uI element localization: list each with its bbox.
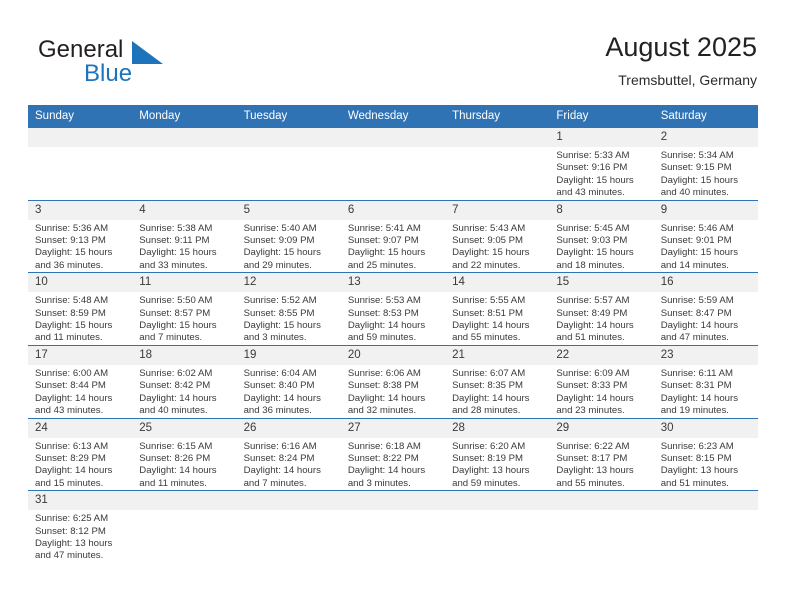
- day-number: 19: [237, 346, 341, 365]
- sunset-text: Sunset: 8:40 PM: [244, 380, 336, 392]
- daylight-text-line1: Daylight: 13 hours: [661, 465, 753, 477]
- weekday-header-row: Sunday Monday Tuesday Wednesday Thursday…: [28, 105, 758, 128]
- day-number: 20: [341, 346, 445, 365]
- sunset-text: Sunset: 8:33 PM: [556, 380, 648, 392]
- daylight-text-line1: Daylight: 14 hours: [348, 320, 440, 332]
- calendar-day-cell[interactable]: 10Sunrise: 5:48 AMSunset: 8:59 PMDayligh…: [28, 273, 132, 346]
- day-details: Sunrise: 6:07 AMSunset: 8:35 PMDaylight:…: [445, 365, 549, 418]
- daylight-text-line1: Daylight: 14 hours: [556, 320, 648, 332]
- calendar-day-cell[interactable]: 25Sunrise: 6:15 AMSunset: 8:26 PMDayligh…: [132, 418, 236, 491]
- triangle-flag-icon: [132, 41, 164, 64]
- day-details: Sunrise: 5:52 AMSunset: 8:55 PMDaylight:…: [237, 292, 341, 345]
- sunset-text: Sunset: 8:57 PM: [139, 308, 231, 320]
- calendar-day-cell[interactable]: 5Sunrise: 5:40 AMSunset: 9:09 PMDaylight…: [237, 200, 341, 273]
- calendar-day-cell[interactable]: 9Sunrise: 5:46 AMSunset: 9:01 PMDaylight…: [654, 200, 758, 273]
- daylight-text-line1: Daylight: 15 hours: [244, 320, 336, 332]
- calendar-table: Sunday Monday Tuesday Wednesday Thursday…: [28, 105, 758, 571]
- day-details: Sunrise: 5:46 AMSunset: 9:01 PMDaylight:…: [654, 220, 758, 273]
- day-details: Sunrise: 6:02 AMSunset: 8:42 PMDaylight:…: [132, 365, 236, 418]
- daylight-text-line2: and 25 minutes.: [348, 260, 440, 272]
- day-number: 28: [445, 419, 549, 438]
- calendar-day-cell[interactable]: 14Sunrise: 5:55 AMSunset: 8:51 PMDayligh…: [445, 273, 549, 346]
- sunset-text: Sunset: 8:17 PM: [556, 453, 648, 465]
- calendar-day-cell[interactable]: 16Sunrise: 5:59 AMSunset: 8:47 PMDayligh…: [654, 273, 758, 346]
- sunset-text: Sunset: 8:42 PM: [139, 380, 231, 392]
- day-number-empty: [132, 128, 236, 147]
- page-subtitle: Tremsbuttel, Germany: [605, 70, 757, 90]
- daylight-text-line1: Daylight: 14 hours: [348, 393, 440, 405]
- calendar-day-cell-empty: [132, 491, 236, 571]
- sunrise-text: Sunrise: 6:20 AM: [452, 441, 544, 453]
- daylight-text-line2: and 28 minutes.: [452, 405, 544, 417]
- weekday-header-sunday: Sunday: [28, 105, 132, 128]
- day-details: Sunrise: 5:57 AMSunset: 8:49 PMDaylight:…: [549, 292, 653, 345]
- day-details: Sunrise: 5:55 AMSunset: 8:51 PMDaylight:…: [445, 292, 549, 345]
- weekday-header-friday: Friday: [549, 105, 653, 128]
- day-details: Sunrise: 5:41 AMSunset: 9:07 PMDaylight:…: [341, 220, 445, 273]
- daylight-text-line2: and 43 minutes.: [556, 187, 648, 199]
- weekday-header-monday: Monday: [132, 105, 236, 128]
- daylight-text-line2: and 19 minutes.: [661, 405, 753, 417]
- sunrise-text: Sunrise: 5:36 AM: [35, 223, 127, 235]
- calendar-day-cell[interactable]: 15Sunrise: 5:57 AMSunset: 8:49 PMDayligh…: [549, 273, 653, 346]
- day-number: 22: [549, 346, 653, 365]
- day-number: 9: [654, 201, 758, 220]
- sunset-text: Sunset: 9:05 PM: [452, 235, 544, 247]
- daylight-text-line1: Daylight: 15 hours: [35, 247, 127, 259]
- daylight-text-line2: and 29 minutes.: [244, 260, 336, 272]
- sunset-text: Sunset: 8:12 PM: [35, 526, 127, 538]
- daylight-text-line2: and 55 minutes.: [556, 478, 648, 490]
- calendar-week-row: 17Sunrise: 6:00 AMSunset: 8:44 PMDayligh…: [28, 345, 758, 418]
- daylight-text-line2: and 11 minutes.: [139, 478, 231, 490]
- daylight-text-line2: and 43 minutes.: [35, 405, 127, 417]
- sunrise-text: Sunrise: 5:33 AM: [556, 150, 648, 162]
- day-number: 6: [341, 201, 445, 220]
- day-details: Sunrise: 6:15 AMSunset: 8:26 PMDaylight:…: [132, 438, 236, 491]
- daylight-text-line2: and 7 minutes.: [244, 478, 336, 490]
- daylight-text-line1: Daylight: 15 hours: [661, 175, 753, 187]
- calendar-day-cell[interactable]: 28Sunrise: 6:20 AMSunset: 8:19 PMDayligh…: [445, 418, 549, 491]
- daylight-text-line2: and 3 minutes.: [244, 332, 336, 344]
- sunset-text: Sunset: 9:13 PM: [35, 235, 127, 247]
- day-number: 18: [132, 346, 236, 365]
- day-details: Sunrise: 5:53 AMSunset: 8:53 PMDaylight:…: [341, 292, 445, 345]
- daylight-text-line2: and 55 minutes.: [452, 332, 544, 344]
- calendar-day-cell[interactable]: 3Sunrise: 5:36 AMSunset: 9:13 PMDaylight…: [28, 200, 132, 273]
- sunrise-text: Sunrise: 5:45 AM: [556, 223, 648, 235]
- day-number: 7: [445, 201, 549, 220]
- day-number: 12: [237, 273, 341, 292]
- calendar-week-row: 1Sunrise: 5:33 AMSunset: 9:16 PMDaylight…: [28, 128, 758, 200]
- sunset-text: Sunset: 8:44 PM: [35, 380, 127, 392]
- calendar-day-cell[interactable]: 1Sunrise: 5:33 AMSunset: 9:16 PMDaylight…: [549, 128, 653, 200]
- sunset-text: Sunset: 9:16 PM: [556, 162, 648, 174]
- day-details: Sunrise: 5:45 AMSunset: 9:03 PMDaylight:…: [549, 220, 653, 273]
- calendar-page: General Blue August 2025 Tremsbuttel, Ge…: [0, 0, 792, 612]
- day-details: Sunrise: 6:23 AMSunset: 8:15 PMDaylight:…: [654, 438, 758, 491]
- sunset-text: Sunset: 8:35 PM: [452, 380, 544, 392]
- sunset-text: Sunset: 9:11 PM: [139, 235, 231, 247]
- day-details: Sunrise: 6:25 AMSunset: 8:12 PMDaylight:…: [28, 510, 132, 563]
- calendar-day-cell[interactable]: 30Sunrise: 6:23 AMSunset: 8:15 PMDayligh…: [654, 418, 758, 491]
- calendar-day-cell-empty: [445, 128, 549, 200]
- daylight-text-line1: Daylight: 14 hours: [661, 393, 753, 405]
- day-number-empty: [341, 491, 445, 510]
- day-number: 2: [654, 128, 758, 147]
- calendar-day-cell-empty: [341, 128, 445, 200]
- daylight-text-line2: and 23 minutes.: [556, 405, 648, 417]
- daylight-text-line1: Daylight: 15 hours: [452, 247, 544, 259]
- daylight-text-line1: Daylight: 15 hours: [661, 247, 753, 259]
- sunrise-text: Sunrise: 6:16 AM: [244, 441, 336, 453]
- calendar-day-cell[interactable]: 22Sunrise: 6:09 AMSunset: 8:33 PMDayligh…: [549, 345, 653, 418]
- sunset-text: Sunset: 8:22 PM: [348, 453, 440, 465]
- calendar-day-cell[interactable]: 29Sunrise: 6:22 AMSunset: 8:17 PMDayligh…: [549, 418, 653, 491]
- daylight-text-line2: and 3 minutes.: [348, 478, 440, 490]
- sunset-text: Sunset: 9:01 PM: [661, 235, 753, 247]
- day-details: Sunrise: 5:33 AMSunset: 9:16 PMDaylight:…: [549, 147, 653, 200]
- day-number-empty: [132, 491, 236, 510]
- daylight-text-line1: Daylight: 14 hours: [244, 393, 336, 405]
- sunrise-text: Sunrise: 6:04 AM: [244, 368, 336, 380]
- sunrise-text: Sunrise: 5:40 AM: [244, 223, 336, 235]
- calendar-week-row: 10Sunrise: 5:48 AMSunset: 8:59 PMDayligh…: [28, 273, 758, 346]
- sunrise-text: Sunrise: 5:52 AM: [244, 295, 336, 307]
- calendar-day-cell[interactable]: 31Sunrise: 6:25 AMSunset: 8:12 PMDayligh…: [28, 491, 132, 571]
- calendar-week-row: 31Sunrise: 6:25 AMSunset: 8:12 PMDayligh…: [28, 491, 758, 571]
- day-number: 11: [132, 273, 236, 292]
- sunset-text: Sunset: 8:19 PM: [452, 453, 544, 465]
- day-number: 24: [28, 419, 132, 438]
- calendar-day-cell-empty: [237, 491, 341, 571]
- daylight-text-line1: Daylight: 15 hours: [35, 320, 127, 332]
- day-number: 14: [445, 273, 549, 292]
- daylight-text-line1: Daylight: 14 hours: [35, 393, 127, 405]
- sunrise-text: Sunrise: 6:18 AM: [348, 441, 440, 453]
- calendar-day-cell[interactable]: 7Sunrise: 5:43 AMSunset: 9:05 PMDaylight…: [445, 200, 549, 273]
- daylight-text-line2: and 40 minutes.: [139, 405, 231, 417]
- day-number-empty: [445, 128, 549, 147]
- calendar-day-cell[interactable]: 18Sunrise: 6:02 AMSunset: 8:42 PMDayligh…: [132, 345, 236, 418]
- day-details: Sunrise: 5:38 AMSunset: 9:11 PMDaylight:…: [132, 220, 236, 273]
- calendar-day-cell[interactable]: 6Sunrise: 5:41 AMSunset: 9:07 PMDaylight…: [341, 200, 445, 273]
- sunset-text: Sunset: 8:55 PM: [244, 308, 336, 320]
- weekday-header-tuesday: Tuesday: [237, 105, 341, 128]
- day-number-empty: [237, 491, 341, 510]
- day-details: Sunrise: 5:48 AMSunset: 8:59 PMDaylight:…: [28, 292, 132, 345]
- sunrise-text: Sunrise: 6:09 AM: [556, 368, 648, 380]
- daylight-text-line1: Daylight: 15 hours: [244, 247, 336, 259]
- day-number: 10: [28, 273, 132, 292]
- sunset-text: Sunset: 8:26 PM: [139, 453, 231, 465]
- day-number: 8: [549, 201, 653, 220]
- day-details: Sunrise: 5:40 AMSunset: 9:09 PMDaylight:…: [237, 220, 341, 273]
- sunrise-text: Sunrise: 6:13 AM: [35, 441, 127, 453]
- calendar-day-cell-empty: [237, 128, 341, 200]
- day-number: 25: [132, 419, 236, 438]
- sunrise-text: Sunrise: 6:15 AM: [139, 441, 231, 453]
- day-details: Sunrise: 6:09 AMSunset: 8:33 PMDaylight:…: [549, 365, 653, 418]
- calendar-body: 1Sunrise: 5:33 AMSunset: 9:16 PMDaylight…: [28, 128, 758, 571]
- day-number: 17: [28, 346, 132, 365]
- day-number-empty: [654, 491, 758, 510]
- sunset-text: Sunset: 8:49 PM: [556, 308, 648, 320]
- sunset-text: Sunset: 8:31 PM: [661, 380, 753, 392]
- sunrise-text: Sunrise: 5:50 AM: [139, 295, 231, 307]
- sunrise-text: Sunrise: 5:43 AM: [452, 223, 544, 235]
- daylight-text-line1: Daylight: 14 hours: [556, 393, 648, 405]
- calendar-day-cell[interactable]: 27Sunrise: 6:18 AMSunset: 8:22 PMDayligh…: [341, 418, 445, 491]
- day-details: Sunrise: 6:13 AMSunset: 8:29 PMDaylight:…: [28, 438, 132, 491]
- sunrise-text: Sunrise: 6:11 AM: [661, 368, 753, 380]
- daylight-text-line2: and 59 minutes.: [348, 332, 440, 344]
- sunset-text: Sunset: 8:51 PM: [452, 308, 544, 320]
- sunrise-text: Sunrise: 6:25 AM: [35, 513, 127, 525]
- day-number: 1: [549, 128, 653, 147]
- sunset-text: Sunset: 8:15 PM: [661, 453, 753, 465]
- day-details: Sunrise: 6:11 AMSunset: 8:31 PMDaylight:…: [654, 365, 758, 418]
- calendar-day-cell-empty: [654, 491, 758, 571]
- day-number: 15: [549, 273, 653, 292]
- daylight-text-line2: and 18 minutes.: [556, 260, 648, 272]
- day-number-empty: [445, 491, 549, 510]
- daylight-text-line1: Daylight: 14 hours: [661, 320, 753, 332]
- daylight-text-line2: and 11 minutes.: [35, 332, 127, 344]
- day-details: Sunrise: 5:34 AMSunset: 9:15 PMDaylight:…: [654, 147, 758, 200]
- daylight-text-line1: Daylight: 14 hours: [348, 465, 440, 477]
- sunset-text: Sunset: 8:29 PM: [35, 453, 127, 465]
- calendar-day-cell[interactable]: 4Sunrise: 5:38 AMSunset: 9:11 PMDaylight…: [132, 200, 236, 273]
- day-number: 26: [237, 419, 341, 438]
- calendar-week-row: 3Sunrise: 5:36 AMSunset: 9:13 PMDaylight…: [28, 200, 758, 273]
- sunrise-text: Sunrise: 6:22 AM: [556, 441, 648, 453]
- sunrise-text: Sunrise: 6:23 AM: [661, 441, 753, 453]
- sunrise-text: Sunrise: 5:46 AM: [661, 223, 753, 235]
- sunrise-text: Sunrise: 5:48 AM: [35, 295, 127, 307]
- calendar-day-cell[interactable]: 13Sunrise: 5:53 AMSunset: 8:53 PMDayligh…: [341, 273, 445, 346]
- sunrise-text: Sunrise: 5:55 AM: [452, 295, 544, 307]
- calendar-day-cell[interactable]: 2Sunrise: 5:34 AMSunset: 9:15 PMDaylight…: [654, 128, 758, 200]
- daylight-text-line1: Daylight: 14 hours: [244, 465, 336, 477]
- calendar-week-row: 24Sunrise: 6:13 AMSunset: 8:29 PMDayligh…: [28, 418, 758, 491]
- daylight-text-line1: Daylight: 13 hours: [556, 465, 648, 477]
- day-number-empty: [237, 128, 341, 147]
- calendar-day-cell-empty: [132, 128, 236, 200]
- sunrise-text: Sunrise: 6:06 AM: [348, 368, 440, 380]
- sunrise-text: Sunrise: 5:57 AM: [556, 295, 648, 307]
- daylight-text-line2: and 47 minutes.: [35, 550, 127, 562]
- sunset-text: Sunset: 9:03 PM: [556, 235, 648, 247]
- day-number-empty: [341, 128, 445, 147]
- day-number: 16: [654, 273, 758, 292]
- calendar-day-cell-empty: [28, 128, 132, 200]
- day-details: Sunrise: 6:20 AMSunset: 8:19 PMDaylight:…: [445, 438, 549, 491]
- day-details: Sunrise: 5:43 AMSunset: 9:05 PMDaylight:…: [445, 220, 549, 273]
- calendar-day-cell-empty: [445, 491, 549, 571]
- day-number: 21: [445, 346, 549, 365]
- weekday-header-wednesday: Wednesday: [341, 105, 445, 128]
- calendar-day-cell[interactable]: 11Sunrise: 5:50 AMSunset: 8:57 PMDayligh…: [132, 273, 236, 346]
- day-number: 3: [28, 201, 132, 220]
- daylight-text-line1: Daylight: 14 hours: [452, 320, 544, 332]
- day-number: 29: [549, 419, 653, 438]
- daylight-text-line2: and 7 minutes.: [139, 332, 231, 344]
- sunset-text: Sunset: 8:53 PM: [348, 308, 440, 320]
- daylight-text-line2: and 51 minutes.: [661, 478, 753, 490]
- day-number: 31: [28, 491, 132, 510]
- weekday-header-thursday: Thursday: [445, 105, 549, 128]
- daylight-text-line1: Daylight: 13 hours: [452, 465, 544, 477]
- calendar-day-cell[interactable]: 17Sunrise: 6:00 AMSunset: 8:44 PMDayligh…: [28, 345, 132, 418]
- daylight-text-line1: Daylight: 15 hours: [556, 247, 648, 259]
- day-number: 5: [237, 201, 341, 220]
- daylight-text-line2: and 22 minutes.: [452, 260, 544, 272]
- brand-name-blue: Blue: [84, 60, 132, 88]
- sunrise-text: Sunrise: 5:41 AM: [348, 223, 440, 235]
- day-details: Sunrise: 5:59 AMSunset: 8:47 PMDaylight:…: [654, 292, 758, 345]
- daylight-text-line2: and 36 minutes.: [35, 260, 127, 272]
- daylight-text-line2: and 51 minutes.: [556, 332, 648, 344]
- day-details: Sunrise: 6:04 AMSunset: 8:40 PMDaylight:…: [237, 365, 341, 418]
- weekday-header-saturday: Saturday: [654, 105, 758, 128]
- day-details: Sunrise: 6:18 AMSunset: 8:22 PMDaylight:…: [341, 438, 445, 491]
- day-number: 13: [341, 273, 445, 292]
- sunset-text: Sunset: 9:07 PM: [348, 235, 440, 247]
- sunrise-text: Sunrise: 5:38 AM: [139, 223, 231, 235]
- sunrise-text: Sunrise: 6:00 AM: [35, 368, 127, 380]
- day-details: Sunrise: 6:22 AMSunset: 8:17 PMDaylight:…: [549, 438, 653, 491]
- sunset-text: Sunset: 8:59 PM: [35, 308, 127, 320]
- day-details: Sunrise: 5:36 AMSunset: 9:13 PMDaylight:…: [28, 220, 132, 273]
- calendar-day-cell[interactable]: 12Sunrise: 5:52 AMSunset: 8:55 PMDayligh…: [237, 273, 341, 346]
- calendar-day-cell[interactable]: 26Sunrise: 6:16 AMSunset: 8:24 PMDayligh…: [237, 418, 341, 491]
- calendar-day-cell-empty: [549, 491, 653, 571]
- daylight-text-line2: and 47 minutes.: [661, 332, 753, 344]
- day-number: 4: [132, 201, 236, 220]
- day-number: 23: [654, 346, 758, 365]
- day-number-empty: [549, 491, 653, 510]
- sunrise-text: Sunrise: 6:07 AM: [452, 368, 544, 380]
- day-details: Sunrise: 6:00 AMSunset: 8:44 PMDaylight:…: [28, 365, 132, 418]
- day-number: 30: [654, 419, 758, 438]
- sunrise-text: Sunrise: 6:02 AM: [139, 368, 231, 380]
- title-block: August 2025 Tremsbuttel, Germany: [605, 30, 757, 90]
- day-details: Sunrise: 6:06 AMSunset: 8:38 PMDaylight:…: [341, 365, 445, 418]
- calendar-day-cell[interactable]: 19Sunrise: 6:04 AMSunset: 8:40 PMDayligh…: [237, 345, 341, 418]
- day-number-empty: [28, 128, 132, 147]
- daylight-text-line2: and 32 minutes.: [348, 405, 440, 417]
- sunset-text: Sunset: 8:47 PM: [661, 308, 753, 320]
- day-details: Sunrise: 6:16 AMSunset: 8:24 PMDaylight:…: [237, 438, 341, 491]
- daylight-text-line1: Daylight: 15 hours: [348, 247, 440, 259]
- calendar-day-cell-empty: [341, 491, 445, 571]
- daylight-text-line1: Daylight: 15 hours: [139, 320, 231, 332]
- sunset-text: Sunset: 9:15 PM: [661, 162, 753, 174]
- daylight-text-line2: and 33 minutes.: [139, 260, 231, 272]
- daylight-text-line1: Daylight: 15 hours: [556, 175, 648, 187]
- daylight-text-line1: Daylight: 14 hours: [35, 465, 127, 477]
- daylight-text-line1: Daylight: 14 hours: [452, 393, 544, 405]
- daylight-text-line1: Daylight: 15 hours: [139, 247, 231, 259]
- calendar-day-cell[interactable]: 8Sunrise: 5:45 AMSunset: 9:03 PMDaylight…: [549, 200, 653, 273]
- daylight-text-line2: and 14 minutes.: [661, 260, 753, 272]
- calendar-day-cell[interactable]: 20Sunrise: 6:06 AMSunset: 8:38 PMDayligh…: [341, 345, 445, 418]
- day-details: Sunrise: 5:50 AMSunset: 8:57 PMDaylight:…: [132, 292, 236, 345]
- brand-logo: General Blue: [38, 36, 268, 92]
- daylight-text-line2: and 59 minutes.: [452, 478, 544, 490]
- calendar-day-cell[interactable]: 24Sunrise: 6:13 AMSunset: 8:29 PMDayligh…: [28, 418, 132, 491]
- daylight-text-line2: and 40 minutes.: [661, 187, 753, 199]
- sunset-text: Sunset: 8:24 PM: [244, 453, 336, 465]
- daylight-text-line2: and 36 minutes.: [244, 405, 336, 417]
- sunset-text: Sunset: 9:09 PM: [244, 235, 336, 247]
- daylight-text-line1: Daylight: 14 hours: [139, 393, 231, 405]
- daylight-text-line2: and 15 minutes.: [35, 478, 127, 490]
- daylight-text-line1: Daylight: 13 hours: [35, 538, 127, 550]
- day-number: 27: [341, 419, 445, 438]
- calendar-day-cell[interactable]: 23Sunrise: 6:11 AMSunset: 8:31 PMDayligh…: [654, 345, 758, 418]
- calendar-day-cell[interactable]: 21Sunrise: 6:07 AMSunset: 8:35 PMDayligh…: [445, 345, 549, 418]
- page-title: August 2025: [605, 30, 757, 64]
- daylight-text-line1: Daylight: 14 hours: [139, 465, 231, 477]
- sunrise-text: Sunrise: 5:34 AM: [661, 150, 753, 162]
- sunrise-text: Sunrise: 5:59 AM: [661, 295, 753, 307]
- sunset-text: Sunset: 8:38 PM: [348, 380, 440, 392]
- sunrise-text: Sunrise: 5:53 AM: [348, 295, 440, 307]
